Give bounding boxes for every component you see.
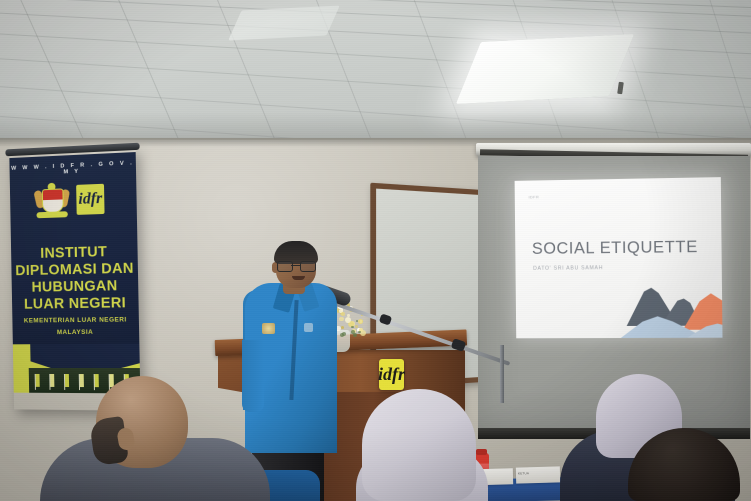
banner-body: W W W . I D F R . G O V . M Y idfr INSTI…: [9, 152, 140, 393]
speaker-mouth: [292, 276, 305, 280]
audience-member-hijab-center: [362, 389, 476, 501]
banner-website-url: W W W . I D F R . G O V . M Y: [10, 160, 137, 178]
slide-corner-tag: IDFR: [528, 194, 539, 199]
crest-shield-icon: [42, 188, 64, 213]
projected-slide: IDFR SOCIAL ETIQUETTE DATO' SRI ABU SAMA…: [515, 177, 723, 338]
photo-scene: IDFR SOCIAL ETIQUETTE DATO' SRI ABU SAMA…: [0, 0, 751, 501]
ceiling-light-panel-secondary: [228, 5, 340, 40]
banner-line-2: DIPLOMASI DAN: [11, 260, 138, 279]
bottle-cap: [476, 449, 487, 455]
ceiling: [0, 0, 751, 152]
podium-idfr-plaque: idfr: [379, 359, 404, 390]
banner-line-4: LUAR NEGERI: [12, 295, 139, 313]
slide-subtitle: DATO' SRI ABU SAMAH: [533, 265, 603, 272]
slide-title: SOCIAL ETIQUETTE: [532, 238, 698, 259]
speaker-pocket-detail: [304, 323, 313, 332]
placard-text: KETUA: [518, 470, 559, 475]
banner-country-text: MALAYSIA: [13, 328, 140, 336]
crest-ribbon-icon: [36, 211, 67, 218]
eyeglass-lens-left: [277, 261, 293, 272]
idfr-roll-up-banner: W W W . I D F R . G O V . M Y idfr INSTI…: [9, 149, 140, 411]
microphone-stand: [500, 345, 504, 403]
banner-line-3: HUBUNGAN: [12, 278, 139, 296]
banner-ministry-text: KEMENTERIAN LUAR NEGERI: [12, 316, 139, 324]
name-placard: KETUA: [516, 466, 560, 483]
eyeglass-lens-right: [300, 261, 316, 272]
speaker-left-arm: [242, 340, 264, 412]
eyeglasses-icon: [277, 261, 316, 271]
ceiling-light-panel: [456, 34, 634, 104]
idfr-logo-mark: idfr: [76, 184, 104, 215]
eyeglass-bridge: [291, 265, 300, 266]
malaysia-crest-icon: [35, 183, 69, 218]
banner-line-1: INSTITUT: [11, 243, 138, 262]
idfr-logo-icon: idfr: [76, 184, 104, 215]
podium-plaque-mark: idfr: [379, 359, 404, 390]
speaker-shirt-badge: [262, 323, 275, 334]
